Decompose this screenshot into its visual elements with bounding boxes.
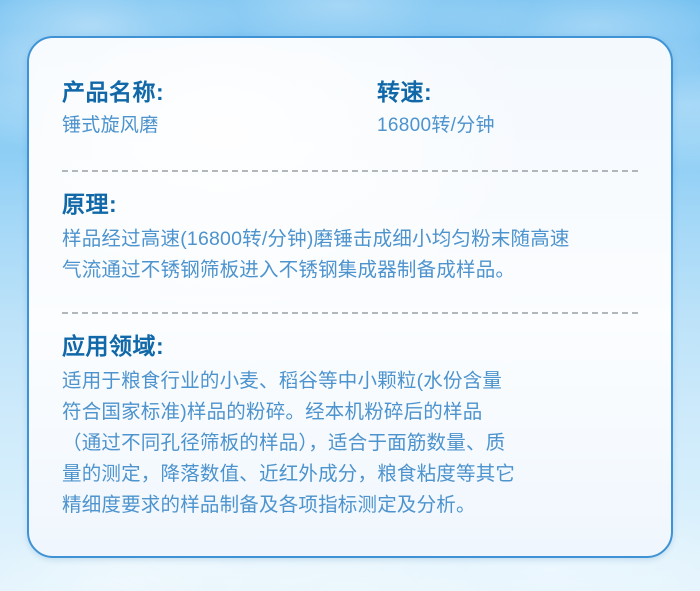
- product-name-field: 产品名称: 锤式旋风磨: [62, 78, 377, 139]
- principle-section: 原理: 样品经过高速(16800转/分钟)磨锤击成细小均匀粉末随高速 气流通过不…: [62, 172, 638, 286]
- principle-label: 原理:: [62, 190, 638, 218]
- spec-card: 产品名称: 锤式旋风磨 转速: 16800转/分钟 原理: 样品经过高速(168…: [27, 36, 673, 558]
- product-name-label: 产品名称:: [62, 78, 377, 106]
- rotation-speed-field: 转速: 16800转/分钟: [377, 78, 638, 139]
- spec-summary-row: 产品名称: 锤式旋风磨 转速: 16800转/分钟: [62, 38, 638, 139]
- application-label: 应用领域:: [62, 332, 638, 360]
- application-line: 适用于粮食行业的小麦、稻谷等中小颗粒(水份含量: [62, 366, 638, 397]
- product-name-value: 锤式旋风磨: [62, 113, 377, 139]
- application-body: 适用于粮食行业的小麦、稻谷等中小颗粒(水份含量 符合国家标准)样品的粉碎。经本机…: [62, 366, 638, 521]
- rotation-speed-label: 转速:: [377, 78, 638, 106]
- principle-line: 气流通过不锈钢筛板进入不锈钢集成器制备成样品。: [62, 255, 638, 286]
- principle-line: 样品经过高速(16800转/分钟)磨锤击成细小均匀粉末随高速: [62, 224, 638, 255]
- product-spec-page: 产品名称: 锤式旋风磨 转速: 16800转/分钟 原理: 样品经过高速(168…: [0, 0, 700, 591]
- rotation-speed-value: 16800转/分钟: [377, 113, 638, 139]
- application-line: 符合国家标准)样品的粉碎。经本机粉碎后的样品: [62, 397, 638, 428]
- application-line: 精细度要求的样品制备及各项指标测定及分析。: [62, 490, 638, 521]
- application-section: 应用领域: 适用于粮食行业的小麦、稻谷等中小颗粒(水份含量 符合国家标准)样品的…: [62, 314, 638, 521]
- principle-body: 样品经过高速(16800转/分钟)磨锤击成细小均匀粉末随高速 气流通过不锈钢筛板…: [62, 224, 638, 286]
- application-line: （通过不同孔径筛板的样品），适合于面筋数量、质: [62, 428, 638, 459]
- application-line: 量的测定，降落数值、近红外成分，粮食粘度等其它: [62, 459, 638, 490]
